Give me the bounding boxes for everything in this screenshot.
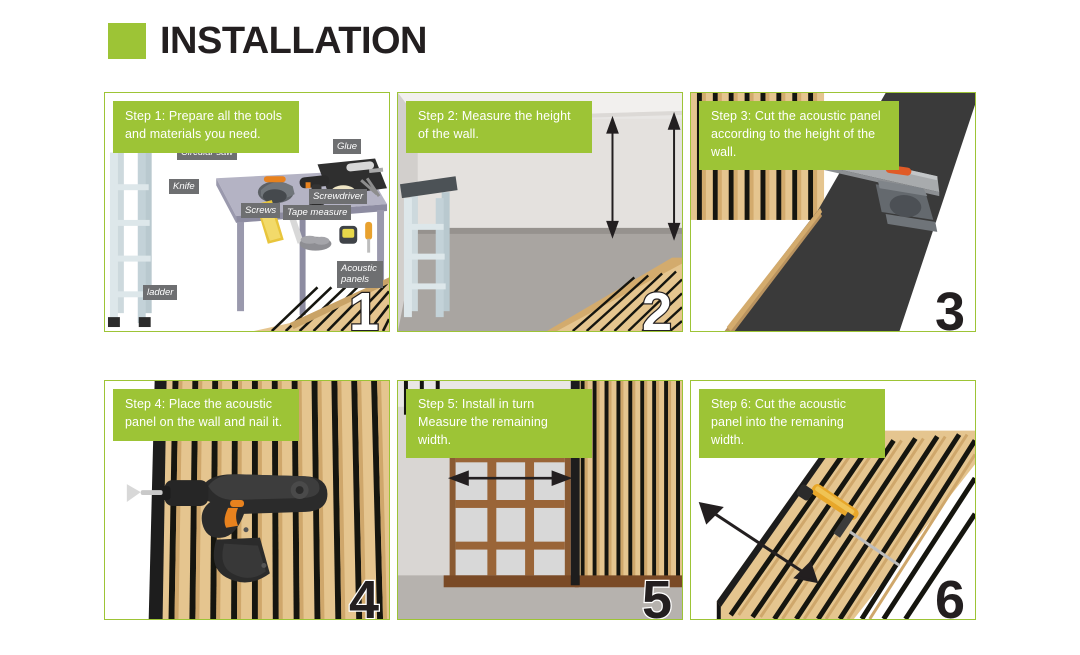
step-1-label: Step 1: Prepare all the tools and materi… — [113, 101, 299, 153]
tag-screwdriver: Screwdriver — [309, 189, 367, 204]
step-2-label: Step 2: Measure the height of the wall. — [406, 101, 592, 153]
step-panel-4[interactable]: Step 4: Place the acoustic panel on the … — [104, 380, 390, 620]
step-panel-2[interactable]: Step 2: Measure the height of the wall. … — [397, 92, 683, 332]
panel-5-number: 5 — [642, 573, 672, 620]
accent-square-icon — [108, 23, 146, 59]
tag-tape-measure: Tape measure — [283, 205, 351, 220]
panel-2-number: 2 — [642, 285, 672, 332]
installation-steps-grid: Step 1: Prepare all the tools and materi… — [104, 92, 976, 620]
panel-1-number: 1 — [349, 285, 379, 332]
panel-4-number: 4 — [349, 573, 379, 620]
title-text: INSTALLATION — [160, 22, 427, 60]
screws-illustration — [300, 236, 332, 251]
step-4-label: Step 4: Place the acoustic panel on the … — [113, 389, 299, 441]
step-3-label: Step 3: Cut the acoustic panel according… — [699, 101, 899, 170]
step-6-label: Step 6: Cut the acoustic panel into the … — [699, 389, 885, 458]
step-panel-6[interactable]: Step 6: Cut the acoustic panel into the … — [690, 380, 976, 620]
tag-knife: Knife — [169, 179, 199, 194]
step-panel-1[interactable]: Step 1: Prepare all the tools and materi… — [104, 92, 390, 332]
tape-measure-illustration — [339, 226, 357, 244]
page-title: INSTALLATION — [108, 22, 427, 60]
tag-screws: Screws — [241, 203, 280, 218]
panel-6-number: 6 — [935, 573, 965, 620]
panel-3-number: 3 — [935, 285, 965, 332]
step-5-label: Step 5: Install in turn Measure the rema… — [406, 389, 592, 458]
tag-ladder: ladder — [143, 285, 177, 300]
step-panel-5[interactable]: Step 5: Install in turn Measure the rema… — [397, 380, 683, 620]
step-panel-3[interactable]: Step 3: Cut the acoustic panel according… — [690, 92, 976, 332]
tag-glue: Glue — [333, 139, 361, 154]
